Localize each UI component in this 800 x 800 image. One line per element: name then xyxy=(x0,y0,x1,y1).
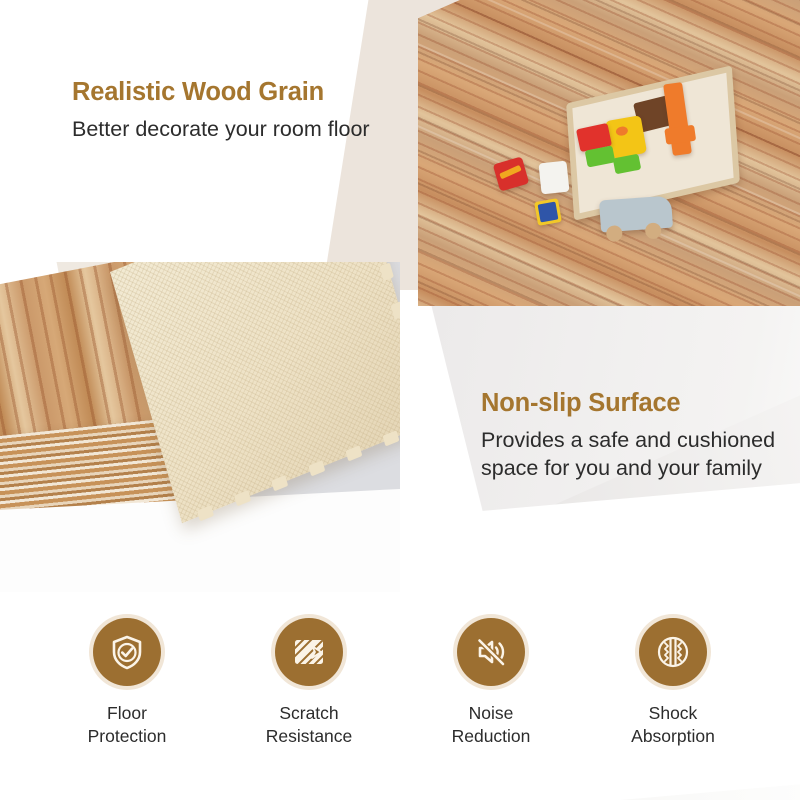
product-infographic: Realistic Wood Grain Better decorate you… xyxy=(0,0,800,800)
photo-stacked-foam-mats xyxy=(0,262,400,592)
benefit-icon-row: Floor Protection xyxy=(0,618,800,749)
benefit-label: Floor Protection xyxy=(88,702,167,749)
benefit-badge xyxy=(639,618,707,686)
toy-blue-block xyxy=(534,198,562,226)
benefit-badge xyxy=(275,618,343,686)
feature-text-wood-grain: Realistic Wood Grain Better decorate you… xyxy=(72,78,370,144)
benefit-shock-absorption: Shock Absorption xyxy=(598,618,748,749)
benefit-label: Shock Absorption xyxy=(631,702,715,749)
feature-text-non-slip: Non-slip Surface Provides a safe and cus… xyxy=(481,389,800,483)
feature-title-wood-grain: Realistic Wood Grain xyxy=(72,78,370,107)
shock-absorption-icon xyxy=(654,633,692,671)
benefit-scratch-resistance: Scratch Resistance xyxy=(234,618,384,749)
toy-grey-car xyxy=(599,196,673,233)
benefit-label: Scratch Resistance xyxy=(266,702,353,749)
feature-description-non-slip: Provides a safe and cushioned space for … xyxy=(481,427,800,483)
benefit-badge xyxy=(93,618,161,686)
feature-title-non-slip: Non-slip Surface xyxy=(481,389,800,418)
muted-speaker-icon xyxy=(472,633,510,671)
mat-interlock-nub xyxy=(391,301,400,320)
toy-white-animal xyxy=(538,161,569,195)
benefit-noise-reduction: Noise Reduction xyxy=(416,618,566,749)
scratch-resistance-icon xyxy=(290,633,328,671)
benefit-label: Noise Reduction xyxy=(452,702,531,749)
benefit-floor-protection: Floor Protection xyxy=(52,618,202,749)
feature-description-wood-grain: Better decorate your room floor xyxy=(72,116,370,144)
benefit-badge xyxy=(457,618,525,686)
shield-check-icon xyxy=(108,633,146,671)
photo-wood-grain-floor xyxy=(418,0,800,306)
